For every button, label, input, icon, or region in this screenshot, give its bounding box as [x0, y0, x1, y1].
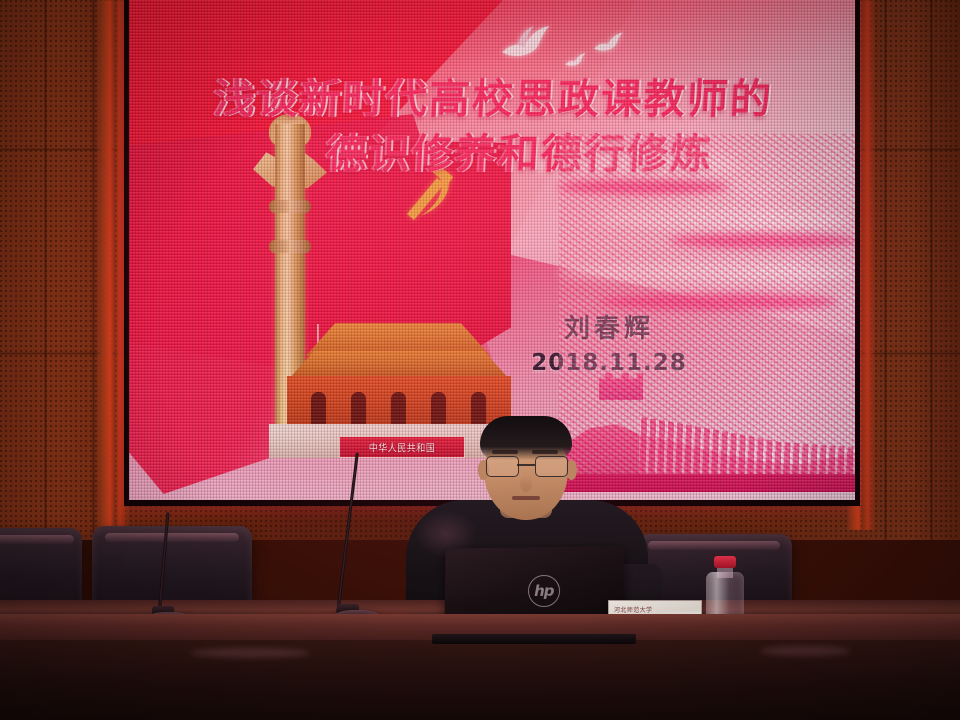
- nose: [520, 474, 532, 492]
- lens-left: [486, 456, 519, 477]
- huabiao-band: [269, 200, 311, 213]
- laptop-base: [432, 634, 636, 644]
- panel-seam: [92, 0, 95, 540]
- dove-icon: [497, 18, 553, 62]
- desk-reflection: [190, 648, 310, 658]
- panel-seam: [884, 0, 887, 540]
- dove-icon: [563, 50, 587, 68]
- lens-right: [535, 456, 568, 477]
- slide-title-line1: 浅谈新时代高校思政课教师的: [213, 75, 775, 123]
- hp-logo-icon: hp: [528, 575, 560, 607]
- chair-highlight: [648, 541, 779, 550]
- bottle-cap: [714, 556, 736, 568]
- eyebrow: [492, 450, 518, 454]
- glasses-bridge: [517, 464, 535, 466]
- chair-highlight: [105, 533, 239, 542]
- gate-arch: [311, 392, 326, 428]
- chair-highlight: [0, 535, 74, 544]
- lecture-hall-photo: 中华人民共和国 浅谈新时代高校思政课教师的 德识修养和德行修炼 刘春辉 2018…: [0, 0, 960, 720]
- panel-seam: [44, 0, 47, 540]
- eyebrow: [532, 450, 558, 454]
- eyeglasses: [486, 456, 566, 476]
- panel-seam: [930, 0, 933, 540]
- desk-reflection: [760, 646, 850, 656]
- huabiao-band: [269, 240, 311, 253]
- gate-arch: [351, 392, 366, 428]
- dove-icon: [591, 28, 625, 54]
- mouth: [512, 496, 540, 500]
